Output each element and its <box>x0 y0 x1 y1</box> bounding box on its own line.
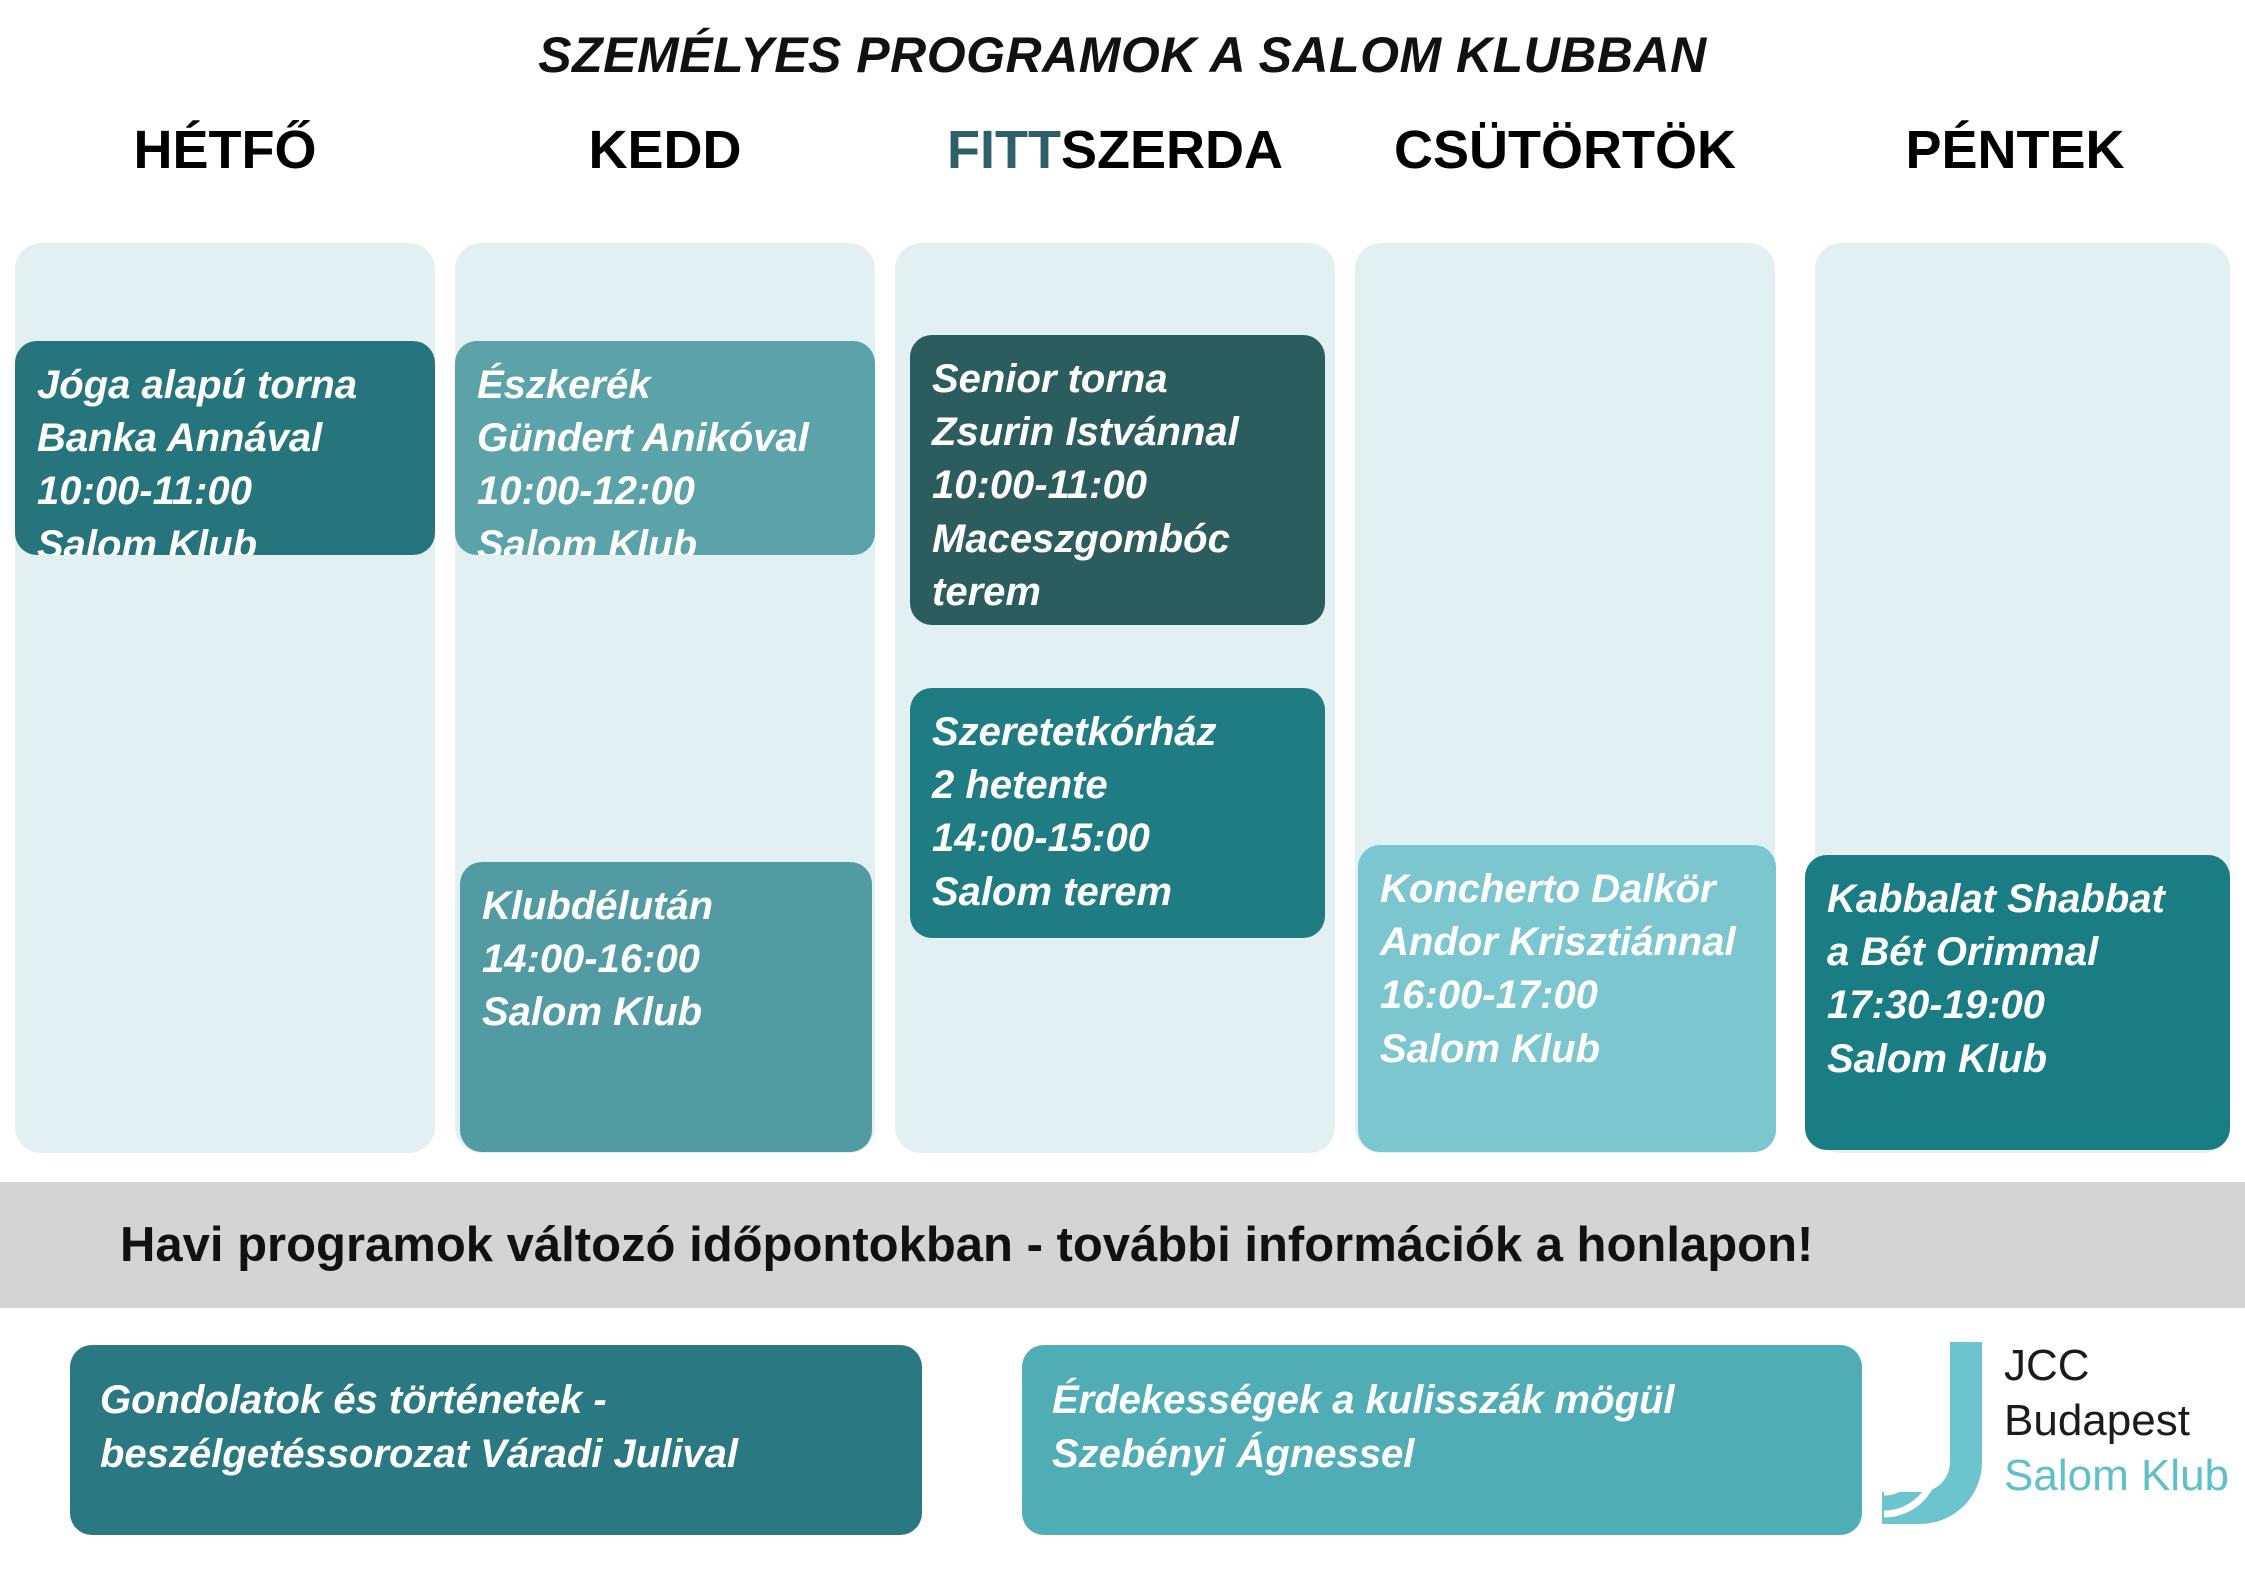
info-banner: Havi programok változó időpontokban - to… <box>0 1182 2245 1308</box>
event-location: Salom Klub <box>1827 1033 2210 1086</box>
bottom-card-line-1: Gondolatok és történetek - <box>100 1373 896 1427</box>
jcc-budapest-logo: JCC Budapest Salom Klub <box>1878 1338 2223 1538</box>
event-time: 14:00-16:00 <box>482 933 852 986</box>
event-leader: Zsurin Istvánnal <box>932 406 1305 459</box>
event-card-erdekessegek-a-kulisszak-mogul[interactable]: Érdekességek a kulisszák mögül Szebényi … <box>1022 1345 1862 1535</box>
bottom-card-line-2: beszélgetéssorozat Váradi Julival <box>100 1427 896 1481</box>
event-leader: a Bét Orimmal <box>1827 926 2210 979</box>
event-location: Salom Klub <box>37 519 415 555</box>
event-card-senior-torna[interactable]: Senior torna Zsurin Istvánnal 10:00-11:0… <box>910 335 1325 625</box>
event-time: 14:00-15:00 <box>932 812 1305 865</box>
event-time: 10:00-12:00 <box>477 465 855 518</box>
jcc-logo-text: JCC Budapest Salom Klub <box>2004 1338 2224 1503</box>
event-leader: Andor Krisztiánnal <box>1380 916 1756 969</box>
event-name: Észkerék <box>477 359 855 412</box>
event-name: Klubdélután <box>482 880 852 933</box>
event-card-kabbalat-shabbat[interactable]: Kabbalat Shabbat a Bét Orimmal 17:30-19:… <box>1805 855 2230 1150</box>
szerda-label: SZERDA <box>1061 120 1283 180</box>
weekly-program-poster: SZEMÉLYES PROGRAMOK A SALOM KLUBBAN HÉTF… <box>0 0 2245 1587</box>
info-banner-text: Havi programok változó időpontokban - to… <box>120 1217 1813 1273</box>
event-card-klubdelutan[interactable]: Klubdélután 14:00-16:00 Salom Klub <box>460 862 872 1152</box>
event-name: Senior torna <box>932 353 1305 406</box>
event-leader: Gündert Anikóval <box>477 412 855 465</box>
event-name: Szeretetkórház <box>932 706 1305 759</box>
event-location: Salom terem <box>932 866 1305 919</box>
day-header-friday: PÉNTEK <box>1800 114 2230 186</box>
event-time: 10:00-11:00 <box>932 459 1305 512</box>
bottom-card-line-2: Szebényi Ágnessel <box>1052 1427 1836 1481</box>
day-header-wednesday: FITTSZERDA <box>895 114 1335 186</box>
logo-line-salom-klub: Salom Klub <box>2004 1448 2224 1503</box>
event-leader: Banka Annával <box>37 412 415 465</box>
jcc-logo-mark-icon <box>1878 1342 1986 1532</box>
event-card-koncherto-dalkor[interactable]: Koncherto Dalkör Andor Krisztiánnal 16:0… <box>1358 845 1776 1152</box>
fitt-label: FITT <box>947 120 1061 180</box>
event-time: 17:30-19:00 <box>1827 979 2210 1032</box>
event-location-line-1: Maceszgombóc <box>932 513 1305 566</box>
day-headers-row: HÉTFŐ KEDD FITTSZERDA CSÜTÖRTÖK PÉNTEK <box>0 114 2245 186</box>
event-location: Salom Klub <box>482 986 852 1039</box>
event-card-eszkerek[interactable]: Észkerék Gündert Anikóval 10:00-12:00 Sa… <box>455 341 875 555</box>
event-location-line-2: terem <box>932 566 1305 619</box>
day-header-monday: HÉTFŐ <box>15 114 435 186</box>
event-card-gondolatok-es-tortenetek[interactable]: Gondolatok és történetek - beszélgetésso… <box>70 1345 922 1535</box>
event-time: 10:00-11:00 <box>37 465 415 518</box>
page-title: SZEMÉLYES PROGRAMOK A SALOM KLUBBAN <box>0 26 2245 84</box>
day-header-tuesday: KEDD <box>455 114 875 186</box>
day-header-thursday: CSÜTÖRTÖK <box>1355 114 1775 186</box>
event-frequency: 2 hetente <box>932 759 1305 812</box>
event-name: Koncherto Dalkör <box>1380 863 1756 916</box>
logo-line-jcc: JCC <box>2004 1338 2224 1393</box>
event-time: 16:00-17:00 <box>1380 969 1756 1022</box>
event-name: Jóga alapú torna <box>37 359 415 412</box>
event-name: Kabbalat Shabbat <box>1827 873 2210 926</box>
logo-line-budapest: Budapest <box>2004 1393 2224 1448</box>
bottom-card-line-1: Érdekességek a kulisszák mögül <box>1052 1373 1836 1427</box>
event-card-joga-alapu-torna[interactable]: Jóga alapú torna Banka Annával 10:00-11:… <box>15 341 435 555</box>
event-location: Salom Klub <box>477 519 855 555</box>
event-location: Salom Klub <box>1380 1023 1756 1076</box>
event-card-szeretetkorhaz[interactable]: Szeretetkórház 2 hetente 14:00-15:00 Sal… <box>910 688 1325 938</box>
